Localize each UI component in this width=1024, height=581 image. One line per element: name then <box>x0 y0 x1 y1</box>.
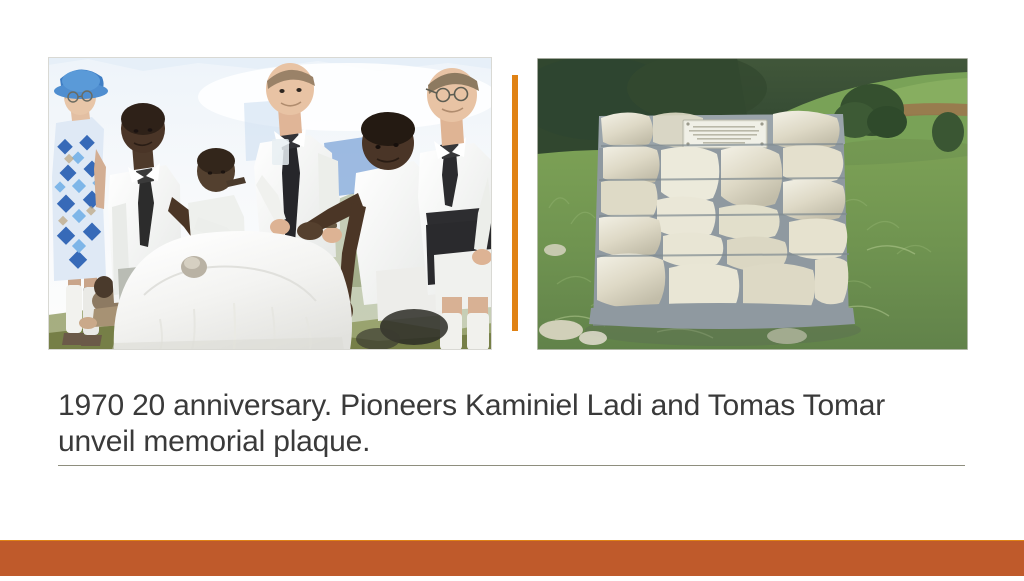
footer-orange-stripe <box>0 534 1024 541</box>
photo-left-artwork <box>48 57 492 350</box>
divider-bar <box>512 75 518 331</box>
stone-memorial-monument <box>585 111 861 346</box>
slide-canvas: 1970 20 anniversary. Pioneers Kaminiel L… <box>0 0 1024 576</box>
photo-stone-memorial[interactable] <box>537 58 968 350</box>
slide-caption: 1970 20 anniversary. Pioneers Kaminiel L… <box>58 388 958 460</box>
caption-divider-rule <box>58 465 965 466</box>
footer-brown-band <box>0 541 1024 576</box>
photo-unveiling-ceremony[interactable] <box>48 57 492 350</box>
photo-right-artwork <box>537 58 968 350</box>
vertical-orange-divider <box>512 75 518 331</box>
footer-band-fill <box>0 541 1024 576</box>
